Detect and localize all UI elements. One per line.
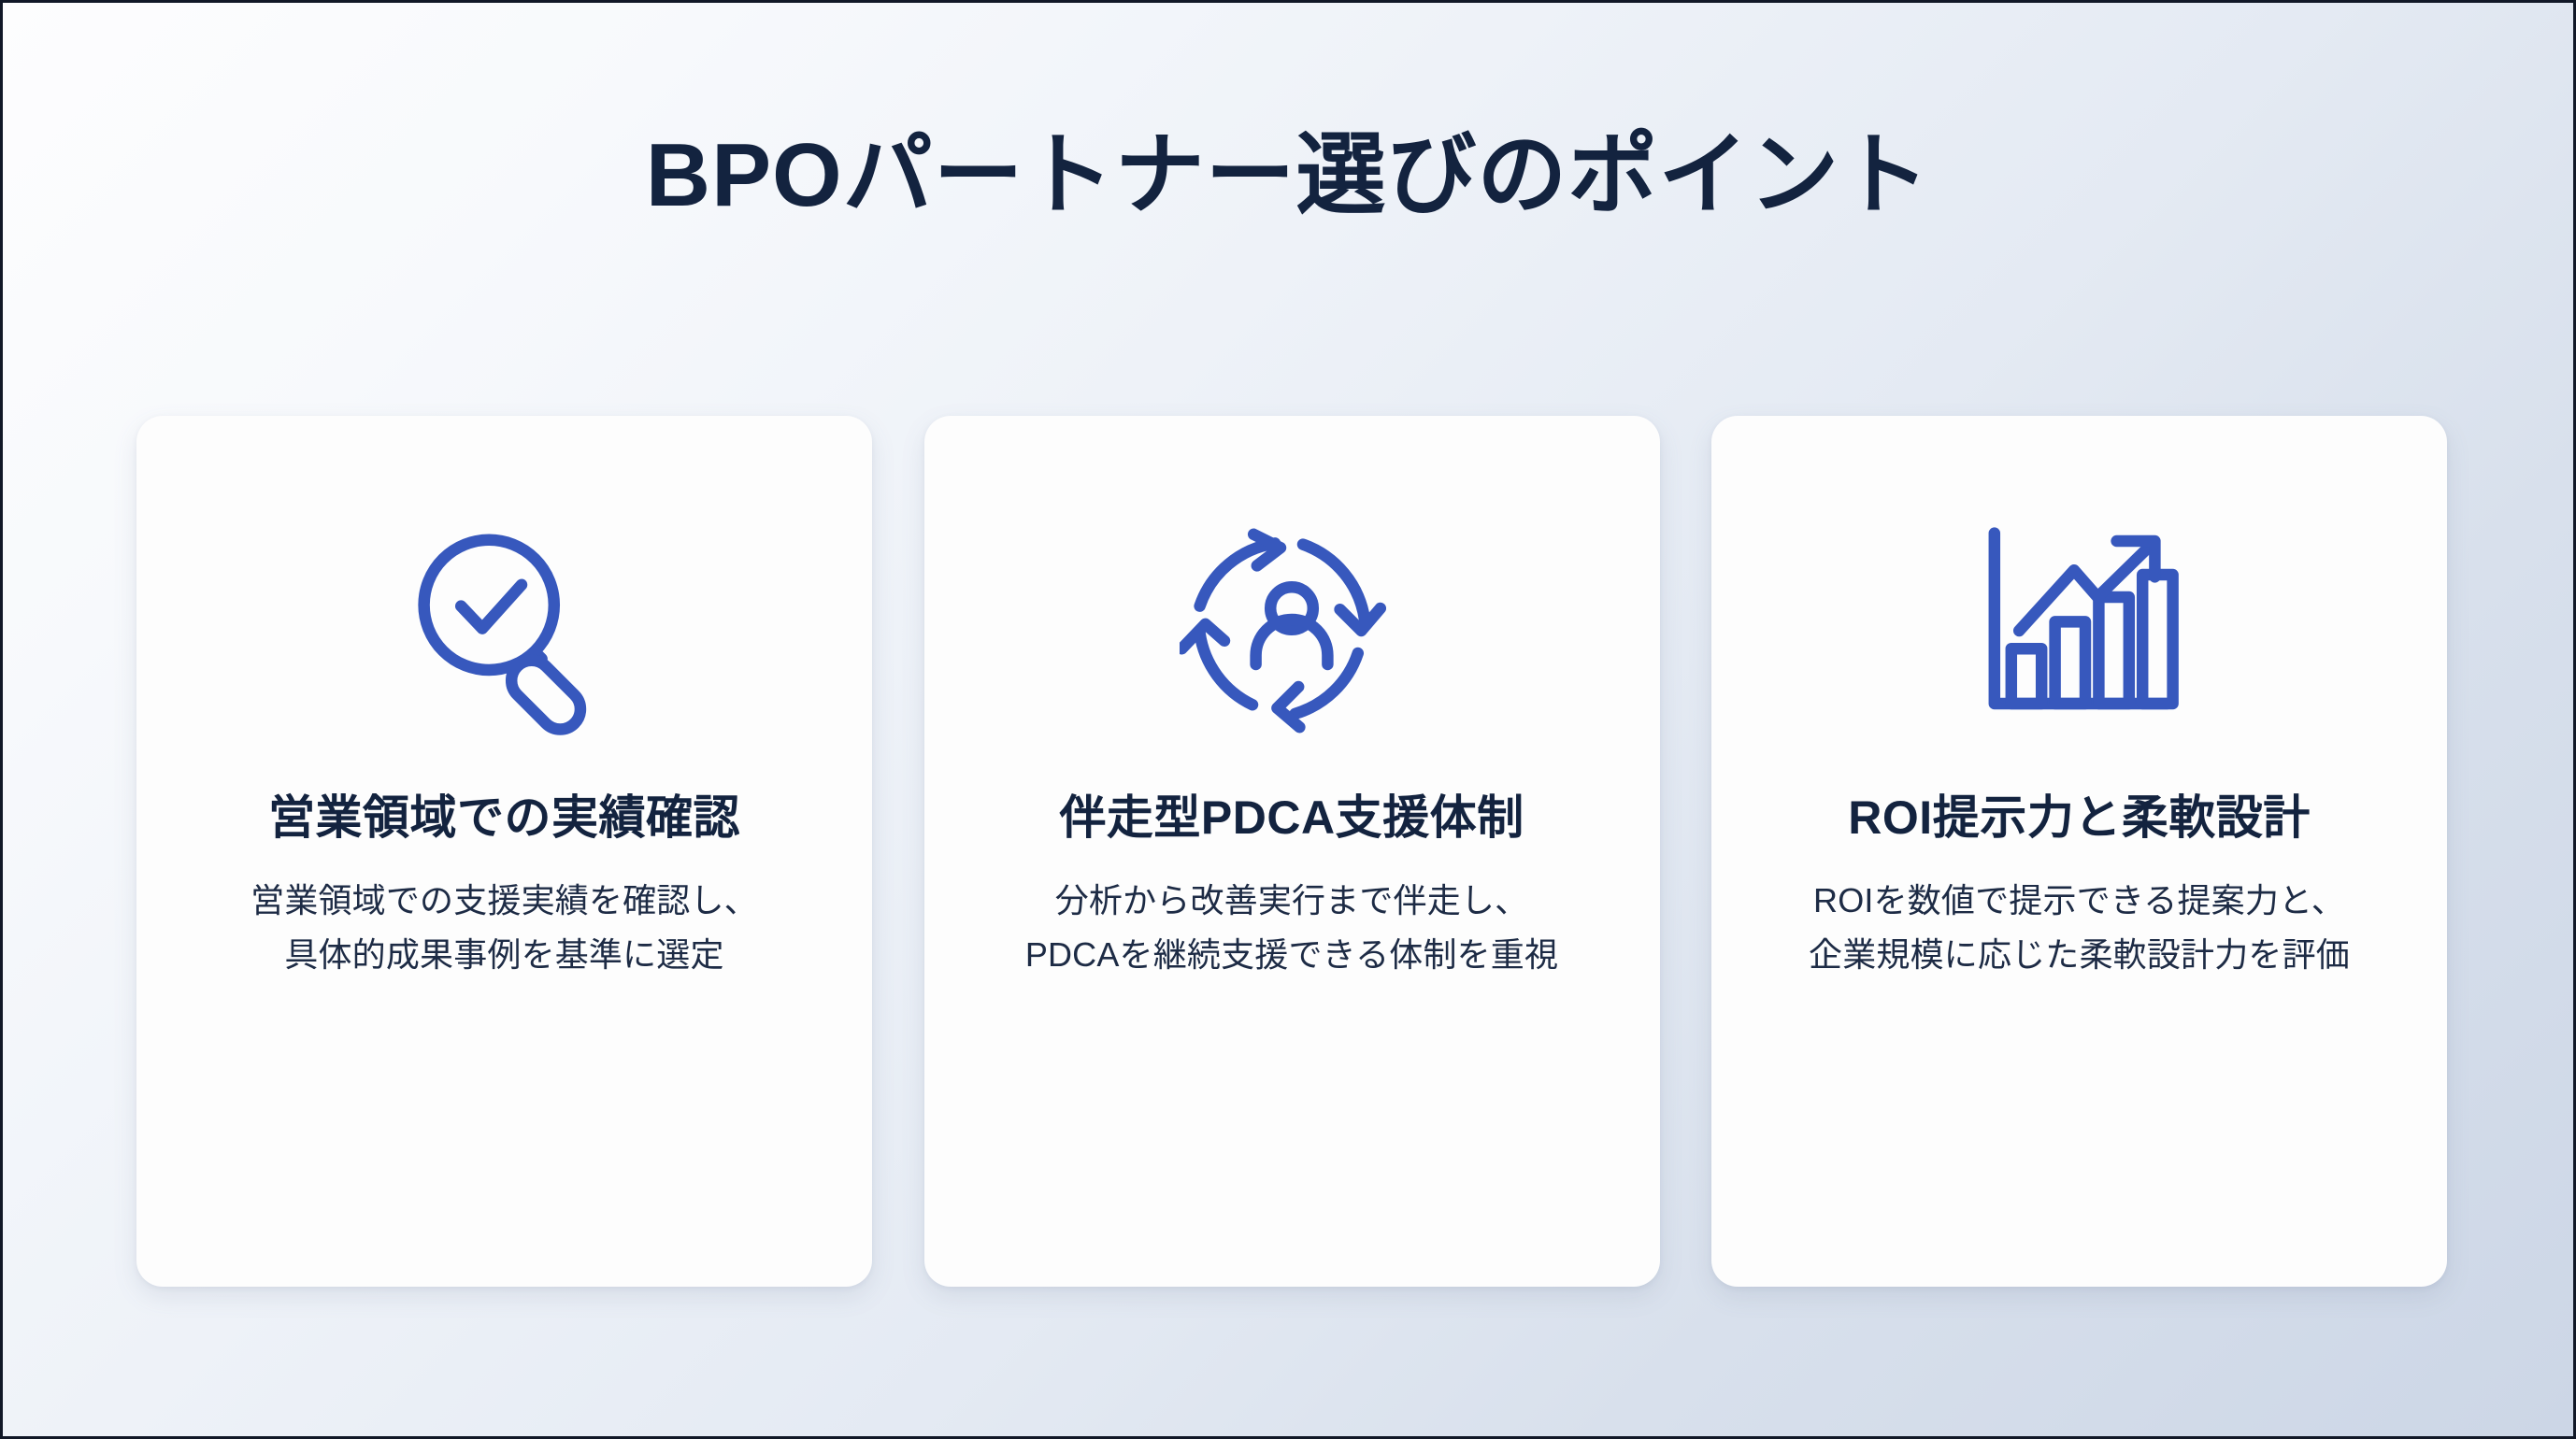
card-description-line-1: ROIを数値で提示できる提案力と、 [1809,874,2350,928]
page-title-container: BPOパートナー選びのポイント [3,126,2573,225]
card-description-line-2: PDCAを継続支援できる体制を重視 [1025,928,1558,982]
card-description: 営業領域での支援実績を確認し、 具体的成果事例を基準に選定 [250,874,758,983]
card-description-line-1: 営業領域での支援実績を確認し、 [250,874,758,928]
card-description-line-1: 分析から改善実行まで伴走し、 [1025,874,1558,928]
card-roi-flexible-design[interactable]: ROI提示力と柔軟設計 ROIを数値で提示できる提案力と、 企業規模に応じた柔軟… [1711,416,2447,1287]
card-pdca-support[interactable]: 伴走型PDCA支援体制 分析から改善実行まで伴走し、 PDCAを継続支援できる体… [924,416,1660,1287]
card-achievement-check[interactable]: 営業領域での実績確認 営業領域での支援実績を確認し、 具体的成果事例を基準に選定 [136,416,872,1287]
card-description: 分析から改善実行まで伴走し、 PDCAを継続支援できる体制を重視 [1025,874,1558,983]
cards-row: 営業領域での実績確認 営業領域での支援実績を確認し、 具体的成果事例を基準に選定 [136,416,2447,1287]
card-title: 伴走型PDCA支援体制 [1059,790,1524,846]
page-title: BPOパートナー選びのポイント [3,126,2573,225]
person-cycle-arrows-icon [1180,485,1404,765]
magnifier-check-icon [393,485,617,765]
slide-root: BPOパートナー選びのポイント 営業領域での実績確認 営業領域での支援実績を確認… [0,0,2576,1439]
card-description-line-2: 企業規模に応じた柔軟設計力を評価 [1809,928,2350,982]
card-title: 営業領域での実績確認 [268,790,740,846]
card-title: ROI提示力と柔軟設計 [1848,790,2310,846]
card-description-line-2: 具体的成果事例を基準に選定 [250,928,758,982]
bar-chart-growth-arrow-icon [1968,485,2192,765]
card-description: ROIを数値で提示できる提案力と、 企業規模に応じた柔軟設計力を評価 [1809,874,2350,983]
